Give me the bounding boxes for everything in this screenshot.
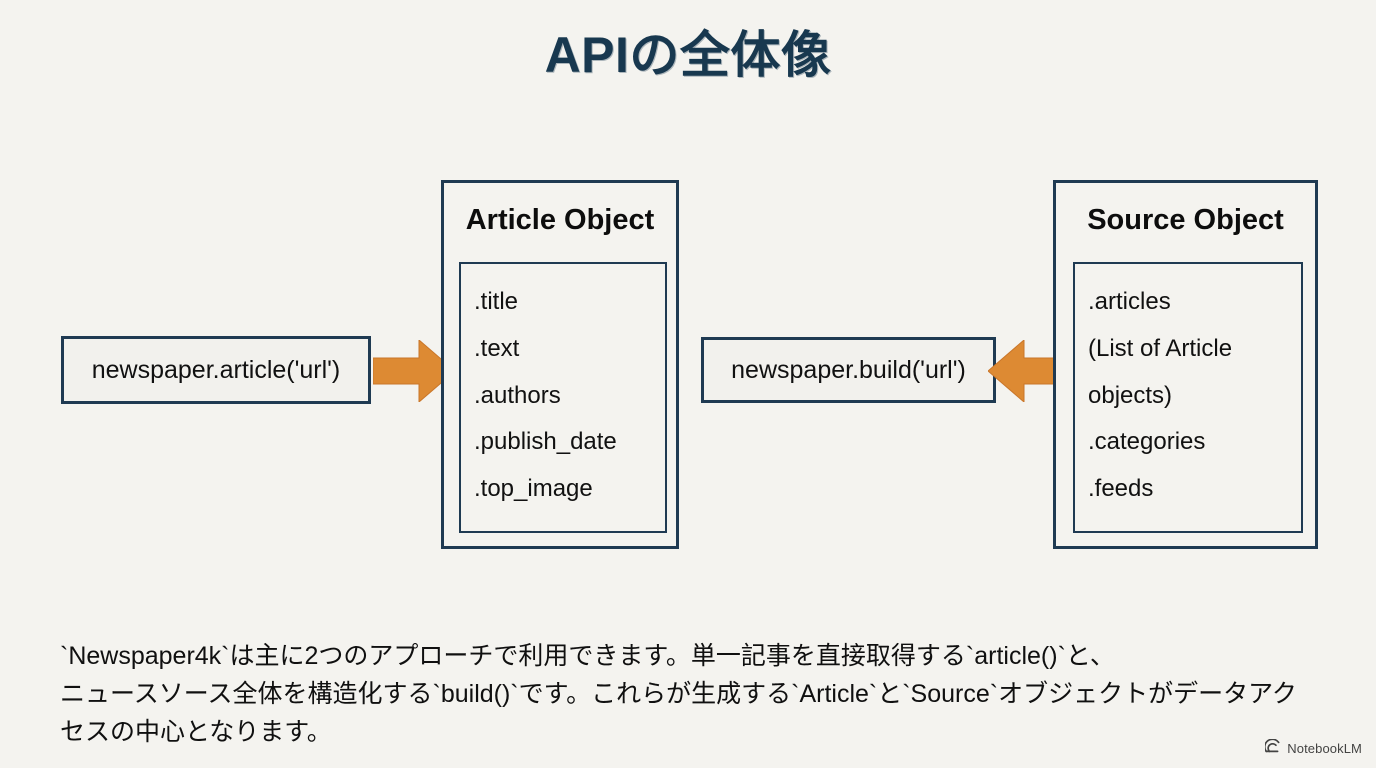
article-field-top-image: .top_image (474, 477, 593, 501)
article-object-title: Article Object (444, 205, 676, 237)
source-field-articles-note-line2: objects) (1088, 384, 1172, 408)
source-field-feeds: .feeds (1088, 477, 1153, 501)
slide-root: { "slide": { "title": "APIの全体像", "backgr… (0, 0, 1376, 768)
source-object-field-list: .articles (List of Article objects) .cat… (1073, 262, 1303, 533)
body-paragraph: `Newspaper4k`は主に2つのアプローチで利用できます。単一記事を直接取… (60, 637, 1310, 751)
article-object-field-list: .title .text .authors .publish_date .top… (459, 262, 667, 533)
source-field-articles: .articles (1088, 290, 1171, 314)
article-field-title: .title (474, 290, 518, 314)
slide-title: APIの全体像 (0, 28, 1376, 83)
source-field-articles-note-line1: (List of Article (1088, 337, 1232, 361)
call-box-article[interactable]: newspaper.article('url') (61, 336, 371, 404)
notebooklm-label: NotebookLM (1287, 741, 1362, 756)
article-field-text: .text (474, 337, 519, 361)
source-object-card: Source Object .articles (List of Article… (1053, 180, 1318, 549)
call-box-build-label: newspaper.build('url') (731, 358, 966, 383)
article-field-publish-date: .publish_date (474, 430, 617, 454)
call-box-article-label: newspaper.article('url') (92, 358, 341, 383)
notebooklm-watermark: NotebookLM (1265, 739, 1362, 758)
notebooklm-icon (1265, 739, 1282, 758)
article-object-card: Article Object .title .text .authors .pu… (441, 180, 679, 549)
source-field-categories: .categories (1088, 430, 1205, 454)
call-box-build[interactable]: newspaper.build('url') (701, 337, 996, 403)
source-object-title: Source Object (1056, 205, 1315, 237)
article-field-authors: .authors (474, 384, 561, 408)
